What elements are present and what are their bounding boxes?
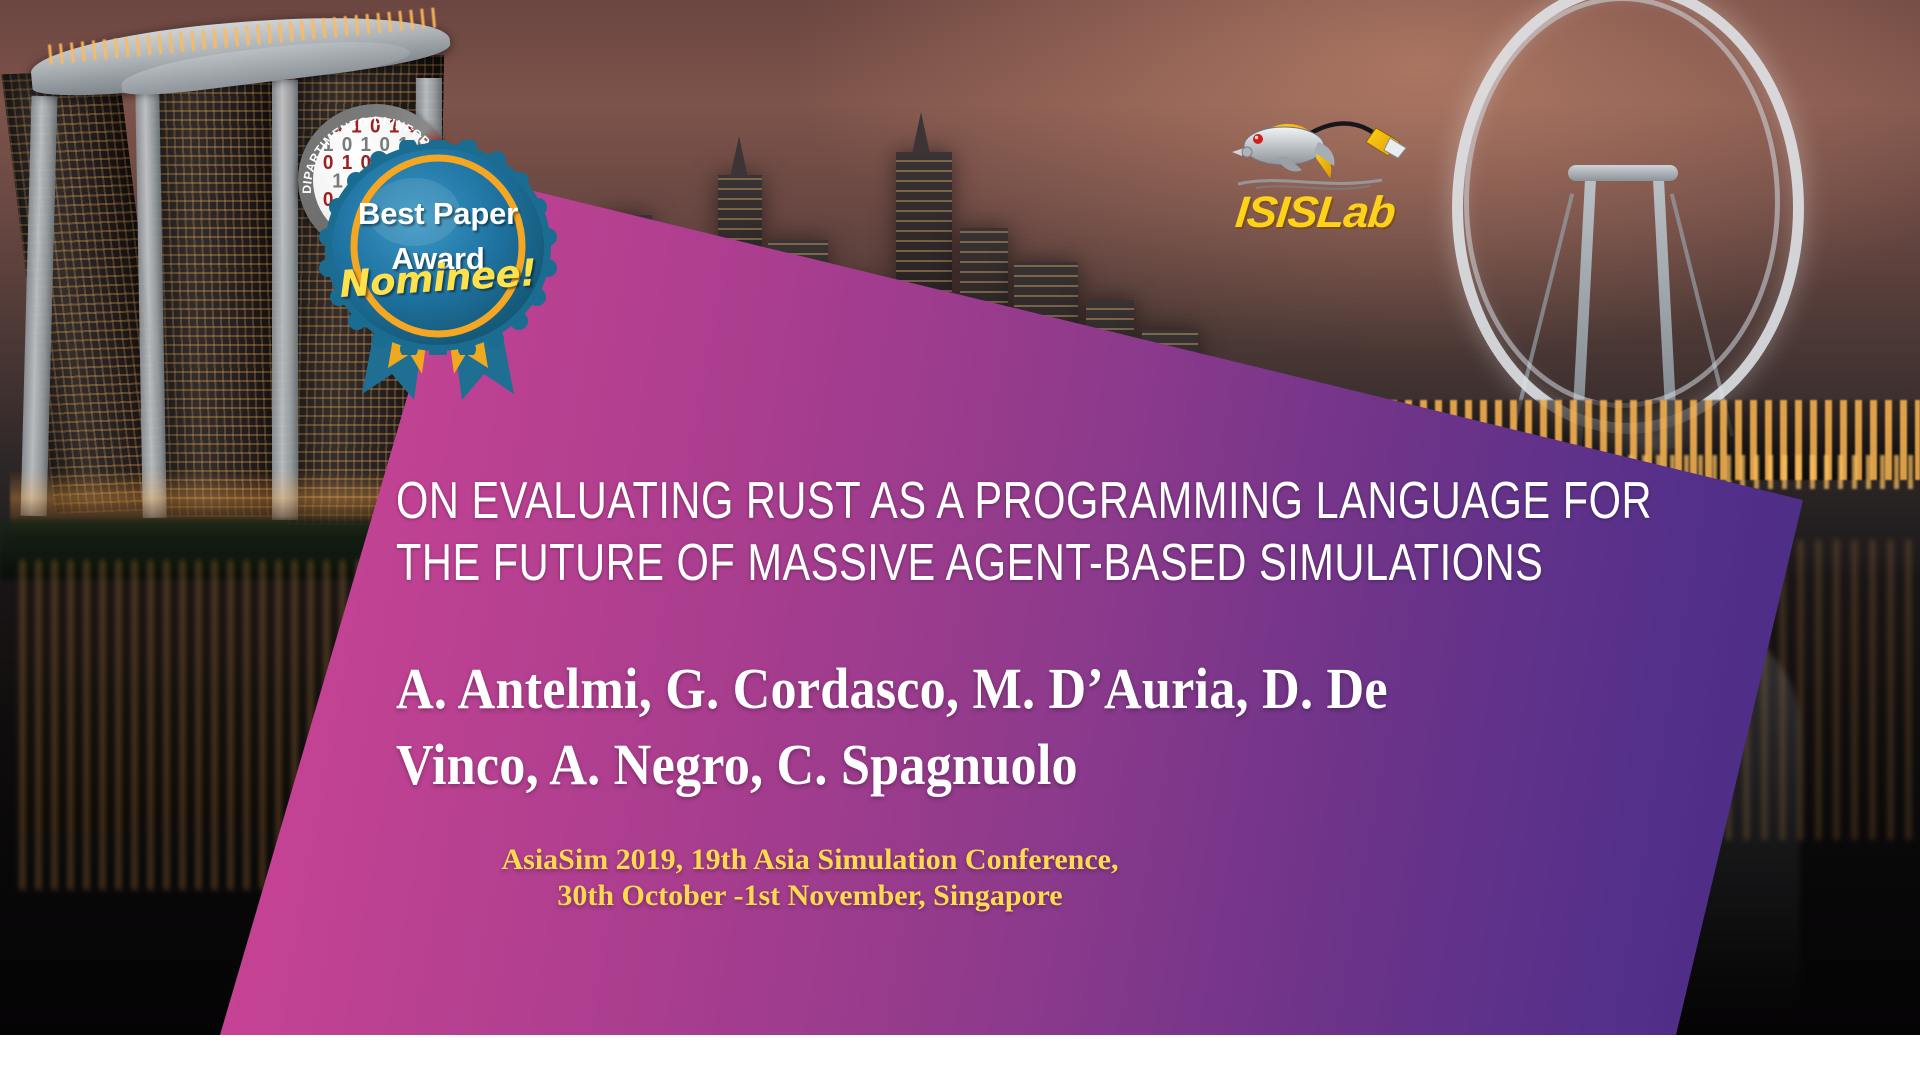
author-list: A. Antelmi, G. Cordasco, M. D’Auria, D. … <box>396 651 1404 804</box>
isislab-wordmark: ISISLab <box>1233 188 1397 238</box>
conference-date-location-line: 30th October -1st November, Singapore <box>410 878 1210 915</box>
badge-rosette-icon <box>318 140 558 355</box>
conference-name-line: AsiaSim 2019, 19th Asia Simulation Confe… <box>410 842 1210 879</box>
mbs-pillar-3 <box>272 80 298 520</box>
singapore-flyer-inner-ring <box>1464 0 1780 408</box>
page-title: ON EVALUATING RUST AS A PROGRAMMING LANG… <box>396 470 1724 595</box>
slide-content: ON EVALUATING RUST AS A PROGRAMMING LANG… <box>396 470 1736 915</box>
isislab-logo: ISISLab <box>1230 112 1460 242</box>
best-paper-award-badge: Best Paper Award Nominee! <box>318 140 558 410</box>
isislab-robotic-fish-icon <box>1230 112 1460 192</box>
skyline-spire-2 <box>912 112 930 154</box>
mbs-tower-2 <box>147 62 291 517</box>
skyline-spire-1 <box>730 136 748 178</box>
conference-details: AsiaSim 2019, 19th Asia Simulation Confe… <box>410 842 1210 915</box>
presentation-slide: 0 1 0 1 0 1 0 1 0 1 0 0 1 0 1 0 1 1 0 1 … <box>0 0 1920 1080</box>
